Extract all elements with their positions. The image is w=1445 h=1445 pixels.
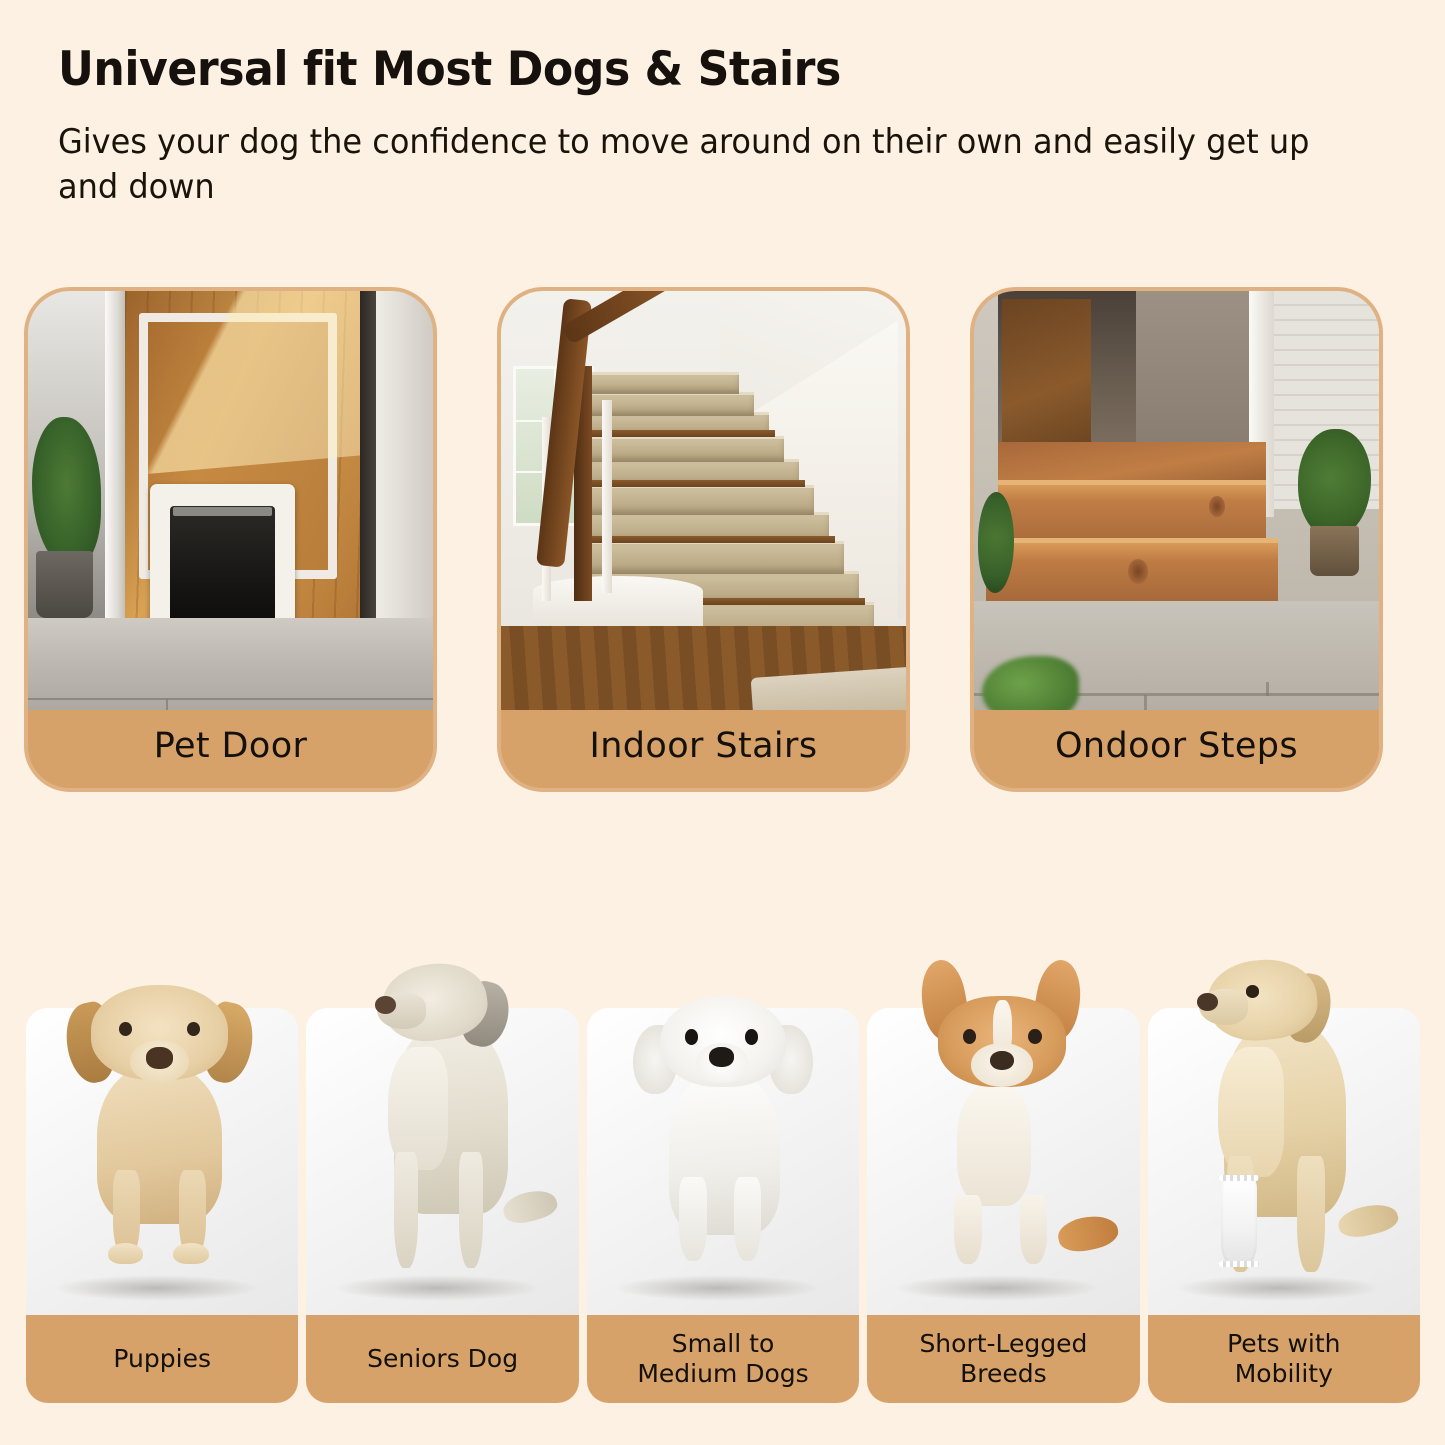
scenario-card-indoor-stairs[interactable]: Indoor Stairs	[497, 287, 910, 792]
dog-front-leg-right	[1020, 1195, 1047, 1264]
dog-card-mobility[interactable]: Pets with Mobility	[1148, 1008, 1420, 1403]
dog-chest	[957, 1083, 1031, 1206]
bichon-illustration	[587, 953, 859, 1315]
scenario-card-outdoor-steps[interactable]: Ondoor Steps	[970, 287, 1383, 792]
outdoor-steps-photo	[974, 291, 1379, 710]
pet-door-photo	[28, 291, 433, 710]
dog-label-line2: Breeds	[960, 1359, 1047, 1390]
scenario-caption-outdoor-steps: Ondoor Steps	[974, 710, 1379, 788]
dog-floor-shadow	[53, 1275, 260, 1300]
dog-paw-left	[108, 1243, 143, 1265]
potted-shrub-shape	[1298, 429, 1371, 538]
small-dog-photo	[587, 1008, 859, 1315]
pet-flap-hinge-bar	[173, 507, 272, 515]
dog-nose	[709, 1047, 734, 1067]
baluster-spindle	[602, 400, 612, 593]
dog-card-puppies[interactable]: Puppies	[26, 1008, 298, 1403]
dog-card-row: Puppies Seniors Dog	[26, 1008, 1420, 1403]
dog-floor-shadow	[894, 1275, 1101, 1300]
dog-nose	[146, 1047, 173, 1069]
corgi-illustration	[867, 953, 1139, 1315]
paver-seam	[1266, 682, 1269, 696]
pet-flap-opening	[170, 506, 275, 630]
dog-caption-puppies: Puppies	[26, 1315, 298, 1403]
door-gap-shadow	[360, 291, 376, 643]
header: Universal fit Most Dogs & Stairs Gives y…	[0, 0, 1445, 210]
leg-bandage-icon	[1221, 1177, 1256, 1264]
dog-floor-shadow	[334, 1275, 541, 1300]
dog-card-small-medium[interactable]: Small to Medium Dogs	[587, 1008, 859, 1403]
page-title: Universal fit Most Dogs & Stairs	[58, 44, 1305, 97]
paver-seam-horizontal	[28, 698, 433, 700]
dog-label-line1: Puppies	[113, 1344, 211, 1375]
dog-card-seniors[interactable]: Seniors Dog	[306, 1008, 578, 1403]
labrador-illustration	[1148, 953, 1420, 1315]
stair-tread	[574, 372, 739, 394]
dog-label-line2: Medium Dogs	[637, 1359, 808, 1390]
dog-tail	[1336, 1200, 1401, 1243]
scenario-card-pet-door[interactable]: Pet Door	[24, 287, 437, 792]
dog-label-line1: Pets with	[1227, 1329, 1340, 1360]
stair-nosing	[574, 536, 835, 543]
scenario-card-row: Pet Door	[24, 287, 1424, 792]
puppy-photo	[26, 1008, 298, 1315]
dog-front-leg-left	[679, 1177, 706, 1260]
door-frame-right	[376, 291, 433, 643]
dog-label-line1: Short-Legged	[919, 1329, 1087, 1360]
stair-tread	[574, 541, 844, 574]
page-subtitle: Gives your dog the confidence to move ar…	[58, 119, 1325, 210]
planter-pot-shape	[1310, 526, 1359, 576]
dog-nose	[1197, 993, 1219, 1011]
planter-pot-shape	[36, 551, 93, 618]
scenario-caption-indoor-stairs: Indoor Stairs	[501, 710, 906, 788]
senior-dog-photo	[306, 1008, 578, 1315]
dog-eye-right	[1028, 1029, 1042, 1044]
dog-label-line1: Seniors Dog	[367, 1344, 518, 1375]
dog-front-leg-right	[734, 1177, 761, 1260]
dog-caption-short-legged: Short-Legged Breeds	[867, 1315, 1139, 1403]
paver-seam-vertical	[166, 699, 168, 710]
dog-eye-right	[745, 1029, 759, 1045]
dog-eye-left	[963, 1029, 977, 1044]
dog-caption-seniors: Seniors Dog	[306, 1315, 578, 1403]
dog-caption-mobility: Pets with Mobility	[1148, 1315, 1420, 1403]
dog-card-short-legged[interactable]: Short-Legged Breeds	[867, 1008, 1139, 1403]
labrador-photo	[1148, 1008, 1420, 1315]
dog-caption-small-medium: Small to Medium Dogs	[587, 1315, 859, 1403]
indoor-stairs-photo	[501, 291, 906, 710]
dog-tail	[500, 1185, 560, 1228]
senior-dog-illustration	[306, 953, 578, 1315]
dog-tail	[1055, 1211, 1120, 1255]
dog-paw-right	[173, 1243, 208, 1265]
dog-front-leg-right	[459, 1152, 484, 1268]
stair-tread	[574, 392, 754, 415]
dog-front-leg-left	[394, 1152, 419, 1268]
scenario-caption-pet-door: Pet Door	[28, 710, 433, 788]
corgi-photo	[867, 1008, 1139, 1315]
paved-ground-shape	[28, 618, 433, 710]
puppy-illustration	[26, 953, 298, 1315]
dog-label-line2: Mobility	[1235, 1359, 1333, 1390]
dog-eye	[1246, 985, 1260, 997]
paver-seam	[1144, 695, 1147, 710]
dog-floor-shadow	[1175, 1275, 1382, 1300]
dog-front-leg-right	[1297, 1156, 1324, 1272]
dog-label-line1: Small to	[672, 1329, 774, 1360]
dog-floor-shadow	[614, 1275, 821, 1300]
dog-eye-left	[119, 1022, 133, 1036]
dog-front-leg-left	[954, 1195, 981, 1264]
